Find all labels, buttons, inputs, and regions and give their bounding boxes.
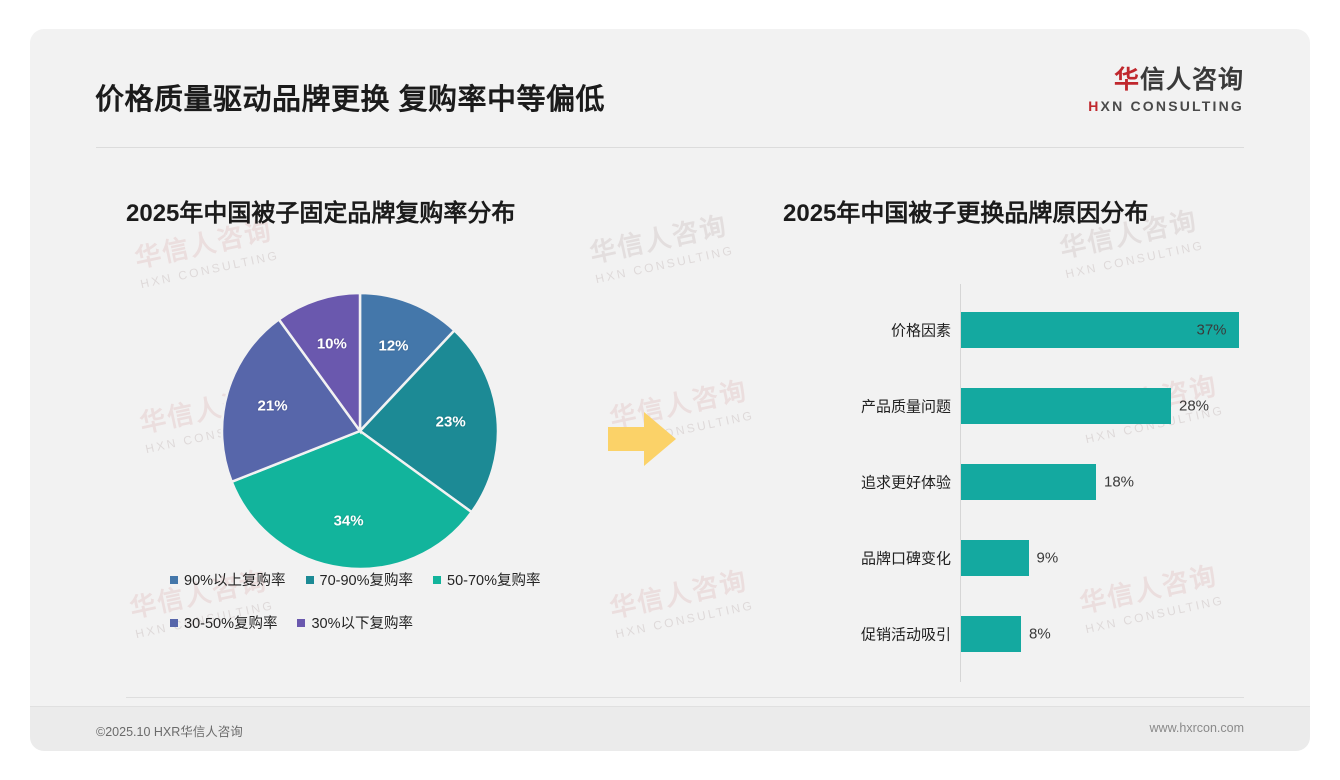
brand-logo: 华信人咨询 HXN CONSULTING	[1088, 67, 1244, 114]
legend-item[interactable]: 90%以上复购率	[170, 569, 286, 590]
bar-row: 品牌口碑变化9%	[783, 540, 1283, 576]
legend-row: 30-50%复购率30%以下复购率	[170, 612, 600, 633]
bar-row: 促销活动吸引8%	[783, 616, 1283, 652]
legend-swatch	[170, 619, 178, 627]
slide-header: 价格质量驱动品牌更换 复购率中等偏低 华信人咨询 HXN CONSULTING	[30, 29, 1310, 129]
pie-legend: 90%以上复购率70-90%复购率50-70%复购率 30-50%复购率30%以…	[170, 569, 600, 655]
bar-chart: 价格因素37%产品质量问题28%追求更好体验18%品牌口碑变化9%促销活动吸引8…	[783, 284, 1283, 684]
slide-page: 华信人咨询HXN CONSULTING 华信人咨询HXN CONSULTING …	[0, 0, 1340, 780]
pie-slice-label: 12%	[379, 338, 409, 355]
logo-chinese: 华信人咨询	[1088, 67, 1244, 95]
logo-accent-char: 华	[1114, 66, 1140, 94]
website-text: www.hxrcon.com	[1150, 721, 1244, 735]
logo-en-rest: XN CONSULTING	[1101, 98, 1244, 114]
bar-category-label: 追求更好体验	[861, 472, 951, 493]
legend-label: 30-50%复购率	[184, 612, 277, 633]
legend-swatch	[433, 576, 441, 584]
legend-item[interactable]: 30-50%复购率	[170, 612, 277, 633]
bar-value-label: 37%	[1197, 322, 1227, 339]
left-chart-title: 2025年中国被子固定品牌复购率分布	[126, 193, 515, 228]
bar-value-label: 9%	[1037, 550, 1059, 567]
pie-slice-label: 10%	[317, 336, 347, 353]
slide-card: 华信人咨询HXN CONSULTING 华信人咨询HXN CONSULTING …	[30, 29, 1310, 751]
bar-fill[interactable]	[961, 388, 1171, 424]
bar-fill[interactable]	[961, 540, 1029, 576]
pie-slice-label: 21%	[258, 397, 288, 414]
legend-item[interactable]: 30%以下复购率	[297, 612, 413, 633]
bar-category-label: 促销活动吸引	[861, 624, 951, 645]
legend-swatch	[170, 576, 178, 584]
bar-value-label: 18%	[1104, 474, 1134, 491]
legend-swatch	[297, 619, 305, 627]
footnote-divider	[126, 697, 1244, 698]
header-divider	[96, 147, 1244, 148]
logo-english: HXN CONSULTING	[1088, 98, 1244, 114]
bar-fill[interactable]	[961, 464, 1096, 500]
legend-label: 50-70%复购率	[447, 569, 540, 590]
pie-slice-label: 34%	[334, 513, 364, 530]
page-title: 价格质量驱动品牌更换 复购率中等偏低	[95, 76, 605, 118]
bar-row: 追求更好体验18%	[783, 464, 1283, 500]
bar-category-label: 品牌口碑变化	[861, 548, 951, 569]
right-chart-title: 2025年中国被子更换品牌原因分布	[783, 193, 1148, 228]
watermark: 华信人咨询HXN CONSULTING	[606, 560, 755, 641]
pie-chart: 12%23%34%21%10%	[220, 291, 500, 571]
legend-row: 90%以上复购率70-90%复购率50-70%复购率	[170, 569, 600, 590]
legend-item[interactable]: 70-90%复购率	[306, 569, 413, 590]
bar-row: 价格因素37%	[783, 312, 1283, 348]
copyright-text: ©2025.10 HXR华信人咨询	[96, 721, 243, 740]
bar-fill[interactable]	[961, 616, 1021, 652]
legend-label: 30%以下复购率	[311, 612, 413, 633]
bar-category-label: 价格因素	[891, 320, 951, 341]
bar-value-label: 28%	[1179, 398, 1209, 415]
right-arrow-icon	[608, 410, 676, 468]
legend-item[interactable]: 50-70%复购率	[433, 569, 540, 590]
bar-row: 产品质量问题28%	[783, 388, 1283, 424]
logo-en-accent: H	[1088, 98, 1100, 114]
footer-bar: ©2025.10 HXR华信人咨询 www.hxrcon.com	[30, 706, 1310, 751]
watermark: 华信人咨询HXN CONSULTING	[586, 205, 735, 286]
logo-chinese-rest: 信人咨询	[1140, 66, 1244, 94]
legend-label: 90%以上复购率	[184, 569, 286, 590]
bar-value-label: 8%	[1029, 626, 1051, 643]
bar-category-label: 产品质量问题	[861, 396, 951, 417]
legend-swatch	[306, 576, 314, 584]
pie-slice-label: 23%	[436, 414, 466, 431]
legend-label: 70-90%复购率	[320, 569, 413, 590]
